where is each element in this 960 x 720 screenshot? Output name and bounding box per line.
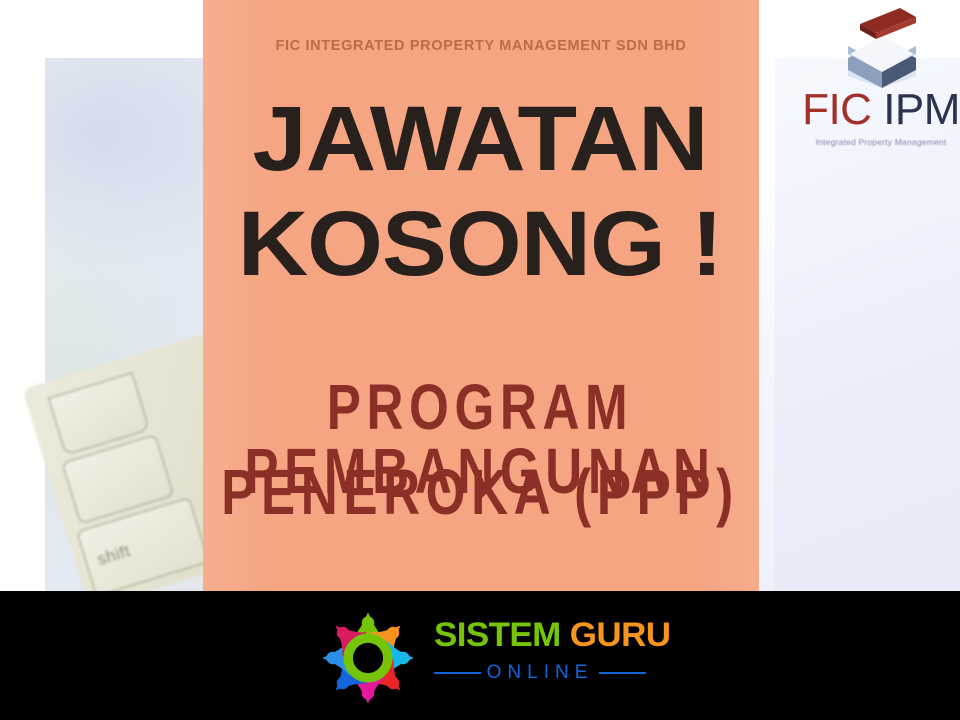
company-kicker-text: FIC INTEGRATED PROPERTY MANAGEMENT SDN B… xyxy=(203,38,759,54)
fic-ipm-logo-mark-icon xyxy=(830,6,934,88)
poster-image: shift FIC INTEGRATED PROPERTY MANAGEMENT… xyxy=(0,0,960,720)
fic-ipm-tagline: Integrated Property Management xyxy=(802,137,960,147)
subtitle-line-2: PENEROKA (PPP) xyxy=(96,460,864,524)
fic-ipm-word-ipm: IPM xyxy=(883,85,960,134)
fic-ipm-logo: FIC IPM Integrated Property Management xyxy=(802,4,960,164)
watermark-dash-right xyxy=(599,672,646,674)
watermark-word-guru: GURU xyxy=(570,616,671,654)
sistem-guru-online-watermark: SISTEM GURU ONLINE xyxy=(316,600,646,712)
watermark-title: SISTEM GURU xyxy=(434,618,652,652)
watermark-word-sistem: SISTEM xyxy=(434,616,561,654)
watermark-word-online: ONLINE xyxy=(487,662,594,684)
watermark-dash-left xyxy=(434,672,481,674)
headline-line-2: KOSONG ! xyxy=(0,198,960,290)
fic-ipm-wordmark: FIC IPM xyxy=(802,88,960,132)
sistem-guru-online-logo-icon xyxy=(316,606,420,710)
watermark-text: SISTEM GURU ONLINE xyxy=(434,618,646,684)
fic-ipm-word-fic: FIC xyxy=(802,85,871,134)
watermark-subtitle-row: ONLINE xyxy=(434,662,646,684)
